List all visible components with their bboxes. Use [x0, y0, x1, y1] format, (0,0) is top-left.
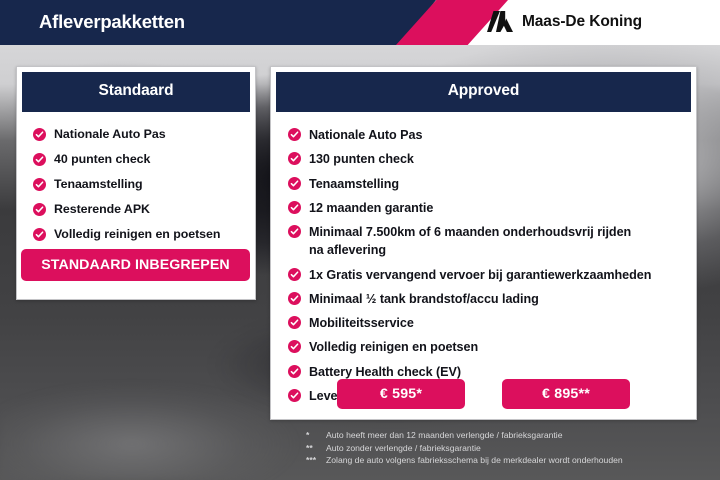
list-item-label: Nationale Auto Pas [309, 126, 422, 144]
afleverpakketten-overview: Afleverpakketten Maas-De Koning Standaar… [0, 0, 720, 480]
check-circle-icon [33, 153, 46, 166]
approved-package-card: Approved Nationale Auto Pas 130 punten c… [270, 66, 697, 420]
price-button-895[interactable]: € 895** [502, 379, 630, 409]
check-circle-icon [288, 340, 301, 353]
footnotes: * Auto heeft meer dan 12 maanden verleng… [306, 430, 706, 468]
check-circle-icon [33, 203, 46, 216]
brand-name: Maas-De Koning [522, 13, 642, 31]
check-circle-icon [33, 178, 46, 191]
list-item: Nationale Auto Pas [288, 126, 696, 144]
list-item-label: Battery Health check (EV) [309, 363, 461, 381]
check-circle-icon [288, 128, 301, 141]
list-item-label: 1x Gratis vervangend vervoer bij garanti… [309, 266, 651, 284]
approved-price-row: € 595* € 895** [270, 379, 697, 409]
check-circle-icon [288, 177, 301, 190]
standaard-feature-list: Nationale Auto Pas 40 punten check Tenaa… [17, 112, 255, 244]
list-item: 130 punten check [288, 150, 696, 168]
footnote-text: Auto heeft meer dan 12 maanden verlengde… [326, 430, 562, 441]
list-item-label: Tenaamstelling [54, 176, 143, 194]
list-item: 12 maanden garantie [288, 199, 696, 217]
list-item-label: Nationale Auto Pas [54, 126, 166, 144]
check-circle-icon [33, 228, 46, 241]
footnote-row: * Auto heeft meer dan 12 maanden verleng… [306, 430, 706, 441]
list-item: Tenaamstelling [288, 175, 696, 193]
check-circle-icon [288, 292, 301, 305]
list-item-label: Volledig reinigen en poetsen [309, 338, 478, 356]
brand-logo: Maas-De Koning [487, 11, 642, 32]
standaard-inbegrepen-button[interactable]: STANDAARD INBEGREPEN [21, 249, 250, 281]
list-item: Volledig reinigen en poetsen [33, 226, 255, 244]
list-item: Resterende APK [33, 201, 255, 219]
list-item-label: 12 maanden garantie [309, 199, 433, 217]
list-item-label: 40 punten check [54, 151, 150, 169]
price-button-595[interactable]: € 595* [337, 379, 465, 409]
check-circle-icon [288, 316, 301, 329]
check-circle-icon [288, 268, 301, 281]
approved-card-title: Approved [276, 72, 691, 112]
maas-de-koning-m-logo-icon [487, 11, 513, 32]
check-circle-icon [288, 152, 301, 165]
check-circle-icon [288, 225, 301, 238]
list-item: Volledig reinigen en poetsen [288, 338, 696, 356]
page-title: Afleverpakketten [39, 11, 185, 33]
list-item: Minimaal 7.500km of 6 maanden onderhouds… [288, 223, 696, 260]
footnote-marker: ** [306, 444, 326, 453]
check-circle-icon [288, 201, 301, 214]
list-item: 40 punten check [33, 151, 255, 169]
footnote-marker: * [306, 431, 326, 440]
list-item-label: Minimaal 7.500km of 6 maanden onderhouds… [309, 223, 645, 260]
list-item: Battery Health check (EV) [288, 363, 696, 381]
list-item-label: Volledig reinigen en poetsen [54, 226, 220, 244]
standaard-card-title: Standaard [22, 72, 250, 112]
list-item-label: Mobiliteitsservice [309, 314, 414, 332]
list-item: Mobiliteitsservice [288, 314, 696, 332]
list-item-label: Minimaal ½ tank brandstof/accu lading [309, 290, 539, 308]
check-circle-icon [33, 128, 46, 141]
footnote-row: *** Zolang de auto volgens fabrieksschem… [306, 455, 706, 466]
list-item-label: 130 punten check [309, 150, 414, 168]
list-item: 1x Gratis vervangend vervoer bij garanti… [288, 266, 696, 284]
page-header: Afleverpakketten Maas-De Koning [0, 0, 720, 45]
footnote-marker: *** [306, 456, 326, 465]
footnote-row: ** Auto zonder verlengde / fabrieksgaran… [306, 443, 706, 454]
list-item: Tenaamstelling [33, 176, 255, 194]
list-item-label: Resterende APK [54, 201, 150, 219]
list-item-label: Tenaamstelling [309, 175, 399, 193]
list-item: Nationale Auto Pas [33, 126, 255, 144]
list-item: Minimaal ½ tank brandstof/accu lading [288, 290, 696, 308]
approved-feature-list: Nationale Auto Pas 130 punten check Tena… [271, 112, 696, 405]
check-circle-icon [288, 365, 301, 378]
footnote-text: Auto zonder verlengde / fabrieksgarantie [326, 443, 481, 454]
footnote-text: Zolang de auto volgens fabrieksschema bi… [326, 455, 623, 466]
